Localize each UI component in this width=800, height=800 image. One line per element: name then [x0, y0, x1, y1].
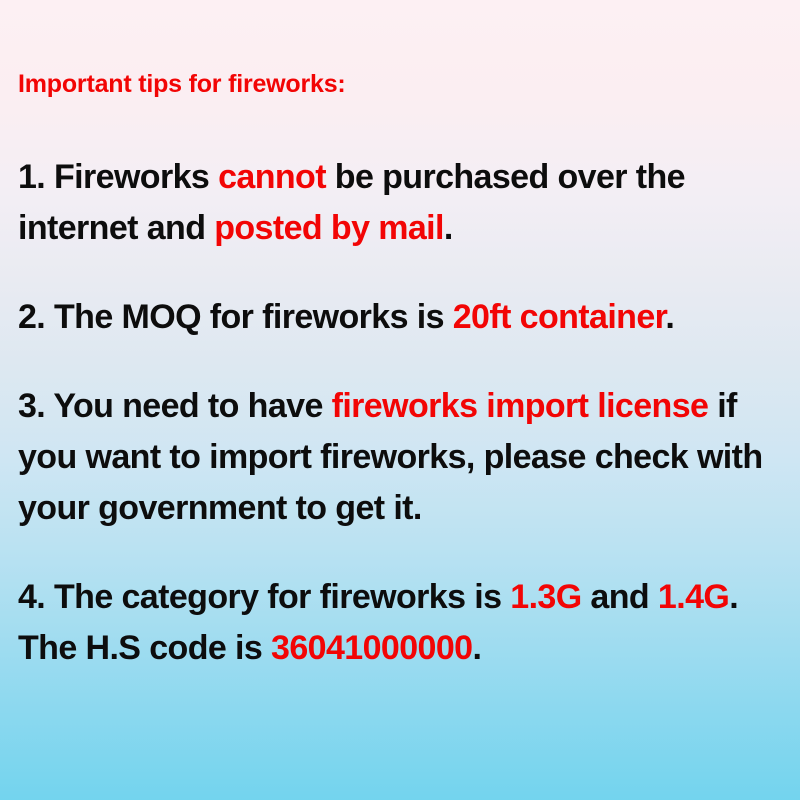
tip-1-text-4: .: [444, 209, 453, 247]
tip-2-emphasis-1: 20ft container: [453, 298, 666, 336]
tip-item-4: 4. The category for fireworks is 1.3G an…: [18, 572, 786, 674]
tip-4-text-0: 4. The category for fireworks is: [18, 578, 510, 616]
tip-2-text-0: 2. The MOQ for fireworks is: [18, 298, 453, 336]
tip-item-1: 1. Fireworks cannot be purchased over th…: [18, 152, 786, 254]
tip-item-2: 2. The MOQ for fireworks is 20ft contain…: [18, 292, 786, 343]
fireworks-tips-page: Important tips for fireworks: 1. Firewor…: [0, 0, 800, 800]
tip-4-text-2: and: [582, 578, 658, 616]
tip-2-text-2: .: [665, 298, 674, 336]
tip-3-text-0: 3. You need to have: [18, 387, 332, 425]
tip-4-text-6: .: [472, 629, 481, 667]
tip-1-emphasis-3: posted by mail: [214, 209, 444, 247]
tip-4-emphasis-1: 1.3G: [510, 578, 581, 616]
tips-list: 1. Fireworks cannot be purchased over th…: [18, 152, 786, 674]
tip-4-emphasis-5: 36041000000: [271, 629, 472, 667]
tip-1-text-0: 1. Fireworks: [18, 158, 218, 196]
tip-item-3: 3. You need to have fireworks import lic…: [18, 381, 786, 534]
tip-3-emphasis-1: fireworks import license: [332, 387, 709, 425]
tip-4-emphasis-3: 1.4G: [658, 578, 729, 616]
tip-1-emphasis-1: cannot: [218, 158, 326, 196]
page-title: Important tips for fireworks:: [18, 70, 346, 99]
